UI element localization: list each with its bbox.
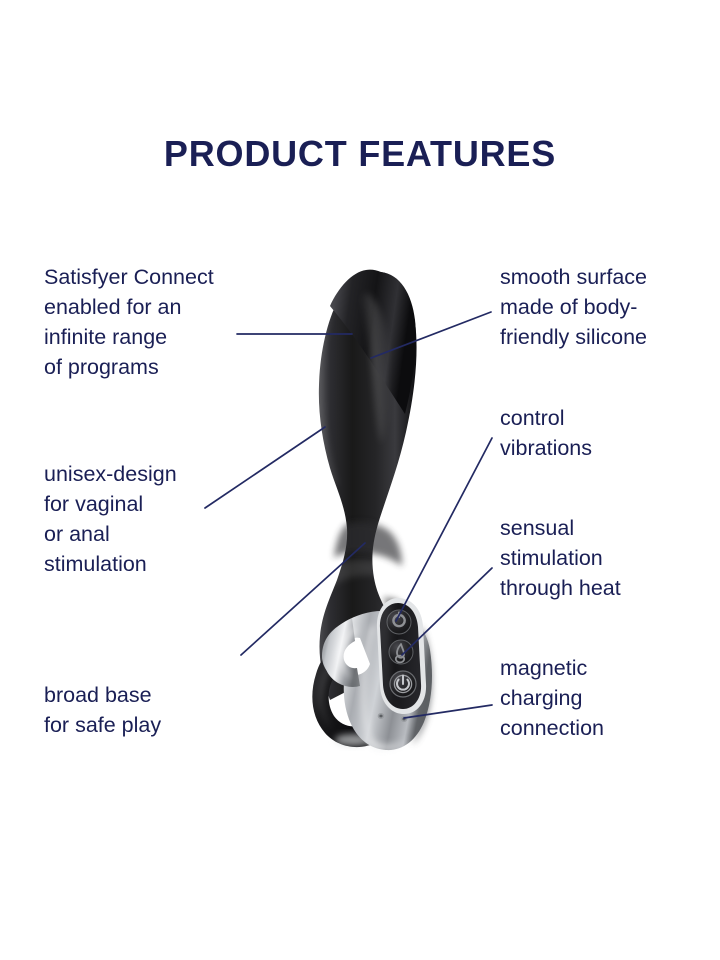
leader-line-silicone — [371, 312, 491, 358]
leader-line-heat — [402, 568, 492, 655]
leader-line-unisex — [205, 427, 325, 508]
leader-line-base — [241, 543, 365, 655]
product-features-infographic: PRODUCT FEATURES — [0, 0, 720, 960]
leader-line-magnetic — [404, 705, 492, 718]
leader-line-control — [396, 438, 492, 621]
leader-lines — [0, 0, 720, 960]
